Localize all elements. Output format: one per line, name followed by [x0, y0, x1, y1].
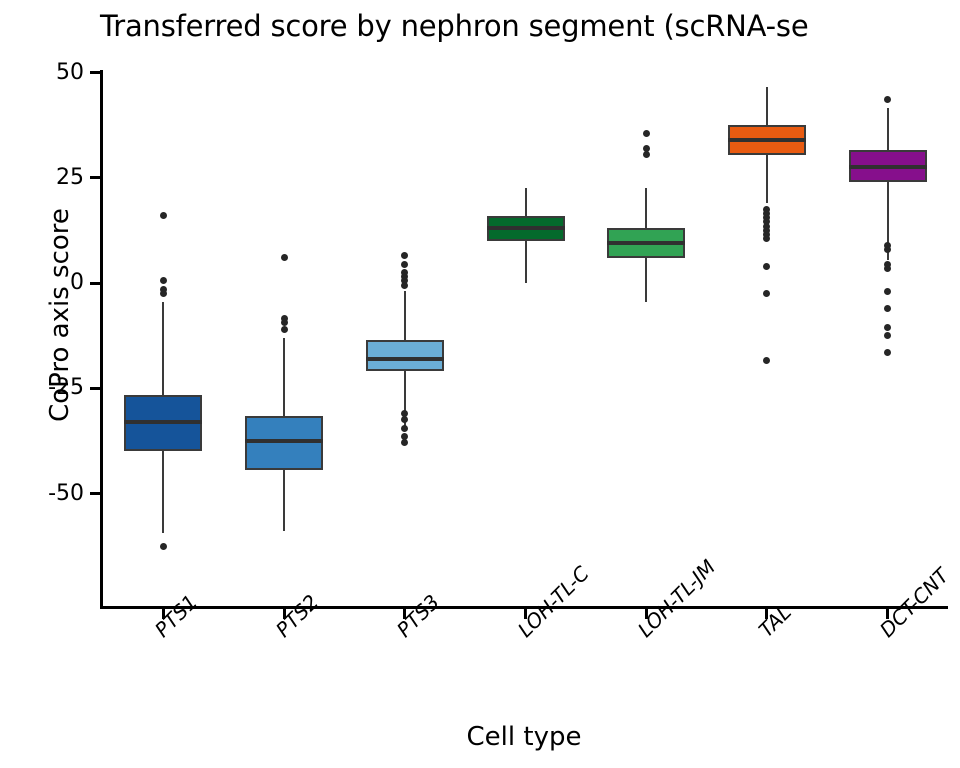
y-axis-title: CoPro axis score [45, 115, 75, 515]
box-plot-dct-cnt [0, 0, 960, 768]
outlier-point [884, 324, 891, 331]
outlier-point [884, 305, 891, 312]
boxplot-chart: Transferred score by nephron segment (sc… [0, 0, 960, 768]
outlier-point [884, 96, 891, 103]
whisker-upper [887, 108, 889, 150]
outlier-point [884, 288, 891, 295]
median-line [849, 165, 927, 169]
outlier-point [884, 246, 891, 253]
x-axis-title: Cell type [100, 722, 948, 752]
outlier-point [884, 332, 891, 339]
outlier-point [884, 265, 891, 272]
outlier-point [884, 349, 891, 356]
